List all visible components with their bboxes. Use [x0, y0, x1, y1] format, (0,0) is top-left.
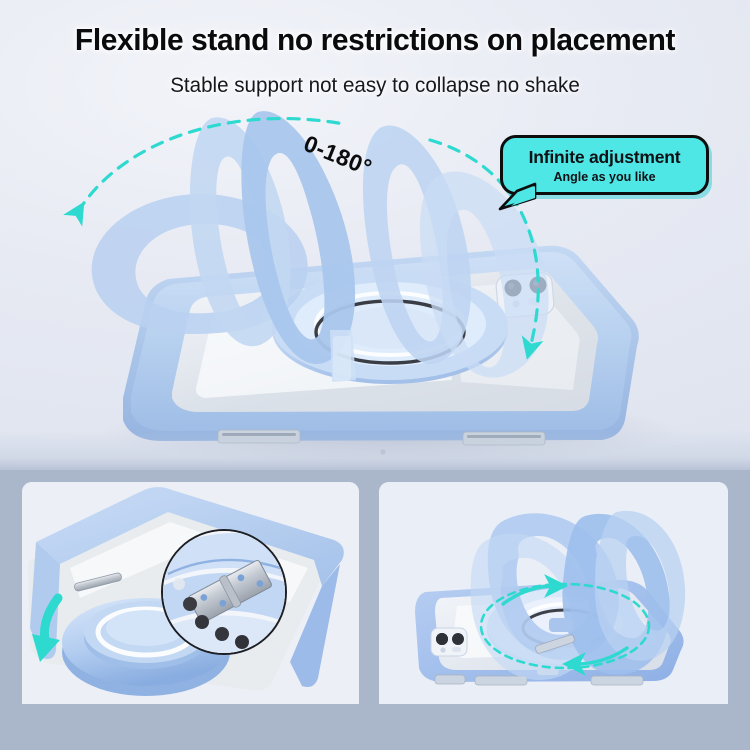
titanium-bracket-illustration: [22, 482, 359, 704]
product-marketing-image: Flexible stand no restrictions on placem…: [0, 0, 750, 750]
hero-illustration: [0, 0, 750, 470]
callout-subtitle: Angle as you like: [553, 170, 655, 184]
ring-positions-small: [471, 511, 685, 680]
angle-range-label: 0-180°: [300, 130, 376, 182]
hero-bottom-fade: [0, 430, 750, 470]
page-subtitle: Stable support not easy to collapse no s…: [8, 74, 743, 98]
ring-position-upleft: [190, 117, 291, 346]
hero-section: Flexible stand no restrictions on placem…: [0, 0, 750, 470]
panel-titanium-bracket: [22, 482, 359, 704]
tablet-case: [123, 246, 639, 455]
callout-title: Infinite adjustment: [529, 147, 681, 168]
camera-module: [495, 272, 554, 319]
rotating-base-disc: [272, 272, 508, 384]
feature-panels-section: Titanium metal bracket refuse to shake 3…: [0, 470, 750, 750]
camera-module-small: [431, 628, 467, 656]
rotation-freedom-illustration: [379, 482, 728, 704]
ring-position-left: [92, 194, 308, 334]
page-title: Flexible stand no restrictions on placem…: [13, 22, 737, 58]
panel-rotation-freedom: [379, 482, 728, 704]
ring-position-right: [363, 125, 471, 364]
callout-tail-icon: [497, 182, 537, 212]
